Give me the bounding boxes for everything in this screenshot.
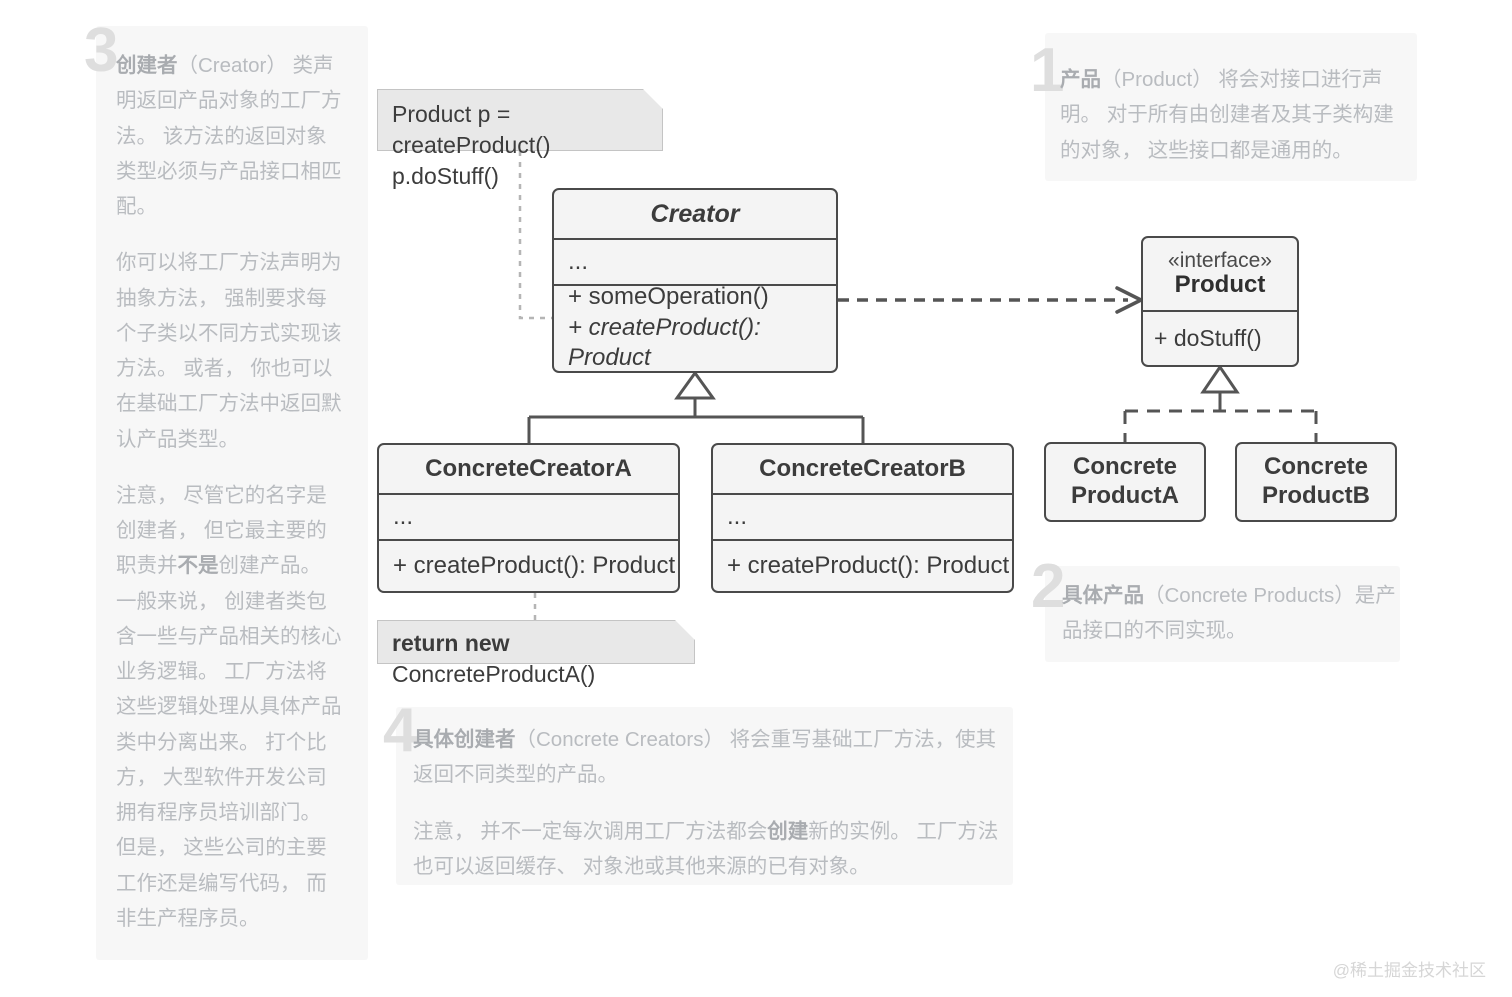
uml-attributes-compartment: ... <box>713 493 1012 539</box>
annotation-text-product: 产品（Product） 将会对接口进行声明。 对于所有由创建者及其子类构建的对象… <box>1060 62 1412 168</box>
watermark: @稀土掘金技术社区 <box>1333 956 1486 981</box>
annotation-text-concrete-products: 具体产品（Concrete Products）是产品接口的不同实现。 <box>1062 578 1402 649</box>
note-return-new-product: return new ConcreteProductA() <box>377 620 695 664</box>
uml-method-create-product: + createProduct(): Product <box>568 313 836 373</box>
uml-class-title: Concrete ProductA <box>1046 444 1204 520</box>
uml-class-title: Product <box>1175 272 1266 299</box>
note-line-1: return new ConcreteProductA() <box>392 628 680 690</box>
uml-operations-compartment: + someOperation() + createProduct(): Pro… <box>554 284 836 370</box>
uml-method-create-product: + createProduct(): Product <box>379 539 678 591</box>
annotation-number-3: 3 <box>84 20 118 82</box>
uml-class-title: ConcreteCreatorB <box>713 445 1012 493</box>
uml-stereotype-label: «interface» <box>1168 249 1272 273</box>
annotation-text-concrete-creators: 具体创建者（Concrete Creators） 将会重写基础工厂方法，使其返回… <box>413 722 1001 884</box>
uml-interface-header: «interface» Product <box>1143 238 1297 310</box>
note-fold-corner-icon <box>643 89 664 110</box>
note-line-1: Product p = createProduct() <box>392 99 648 161</box>
annotation-text-creator: 创建者（Creator） 类声明返回产品对象的工厂方法。 该方法的返回对象类型必… <box>116 48 342 936</box>
uml-method-create-product: + createProduct(): Product <box>713 539 1012 591</box>
note-fold-corner-icon <box>675 620 696 641</box>
note-creator-usage: Product p = createProduct() p.doStuff() <box>377 89 663 151</box>
uml-class-concrete-product-a[interactable]: Concrete ProductA <box>1044 442 1206 522</box>
uml-class-title-line-2: ProductA <box>1071 482 1179 511</box>
uml-class-concrete-creator-a[interactable]: ConcreteCreatorA ... + createProduct(): … <box>377 443 680 593</box>
uml-class-title-line-1: Concrete <box>1073 453 1177 482</box>
uml-class-title: ConcreteCreatorA <box>379 445 678 493</box>
uml-interface-product[interactable]: «interface» Product + doStuff() <box>1141 236 1299 367</box>
annotation-number-2: 2 <box>1031 556 1065 618</box>
uml-method-do-stuff: + doStuff() <box>1143 310 1297 364</box>
uml-attributes-compartment: ... <box>554 238 836 284</box>
uml-attributes-compartment: ... <box>379 493 678 539</box>
uml-class-title-line-1: Concrete <box>1264 453 1368 482</box>
uml-method-some-operation: + someOperation() <box>568 282 769 313</box>
uml-class-creator[interactable]: Creator ... + someOperation() + createPr… <box>552 188 838 373</box>
uml-class-concrete-creator-b[interactable]: ConcreteCreatorB ... + createProduct(): … <box>711 443 1014 593</box>
uml-class-title: Concrete ProductB <box>1237 444 1395 520</box>
uml-class-title: Creator <box>554 190 836 238</box>
uml-class-title-line-2: ProductB <box>1262 482 1370 511</box>
uml-class-concrete-product-b[interactable]: Concrete ProductB <box>1235 442 1397 522</box>
